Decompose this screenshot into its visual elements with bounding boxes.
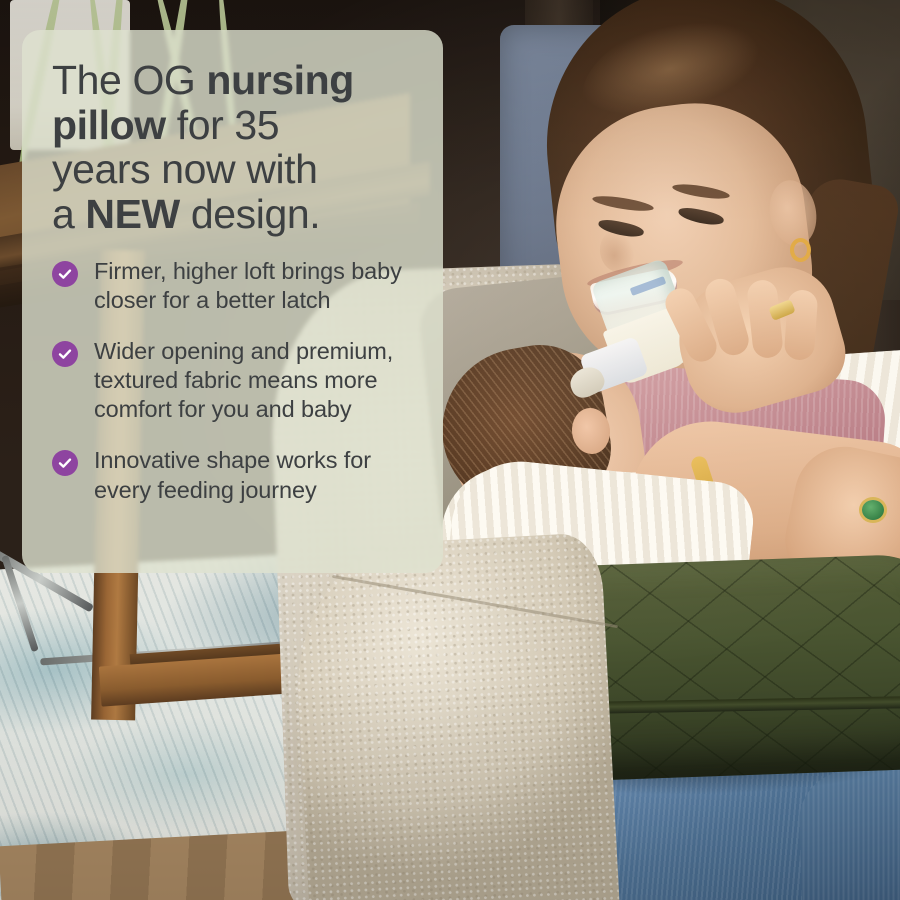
check-icon <box>52 341 78 367</box>
marketing-text-panel: The OG nursingpillow for 35years now wit… <box>22 30 443 573</box>
headline-part-the-og: The OG <box>52 57 206 103</box>
headline-part-design: design. <box>180 191 320 237</box>
armchair-arm <box>291 532 620 900</box>
headline-part-a: a <box>52 191 85 237</box>
headline-part-nursing: nursing <box>206 57 354 103</box>
bullet-text: Innovative shape works for every feeding… <box>94 446 417 504</box>
list-item: Firmer, higher loft brings baby closer f… <box>52 257 417 315</box>
check-icon <box>52 261 78 287</box>
feature-bullet-list: Firmer, higher loft brings baby closer f… <box>52 257 417 505</box>
headline-part-years-now-with: years now with <box>52 146 318 192</box>
boucle-texture <box>291 532 620 900</box>
headline-part-pillow: pillow <box>52 102 166 148</box>
headline: The OG nursingpillow for 35years now wit… <box>52 58 382 237</box>
emerald-ring <box>862 500 884 520</box>
list-item: Wider opening and premium, textured fabr… <box>52 337 417 424</box>
gold-earring <box>790 238 811 262</box>
headline-part-for-35: for 35 <box>166 102 279 148</box>
bullet-text: Firmer, higher loft brings baby closer f… <box>94 257 417 315</box>
bullet-text: Wider opening and premium, textured fabr… <box>94 337 417 424</box>
promo-image: The OG nursingpillow for 35years now wit… <box>0 0 900 900</box>
check-icon <box>52 450 78 476</box>
headline-part-new: NEW <box>85 191 179 237</box>
list-item: Innovative shape works for every feeding… <box>52 446 417 504</box>
